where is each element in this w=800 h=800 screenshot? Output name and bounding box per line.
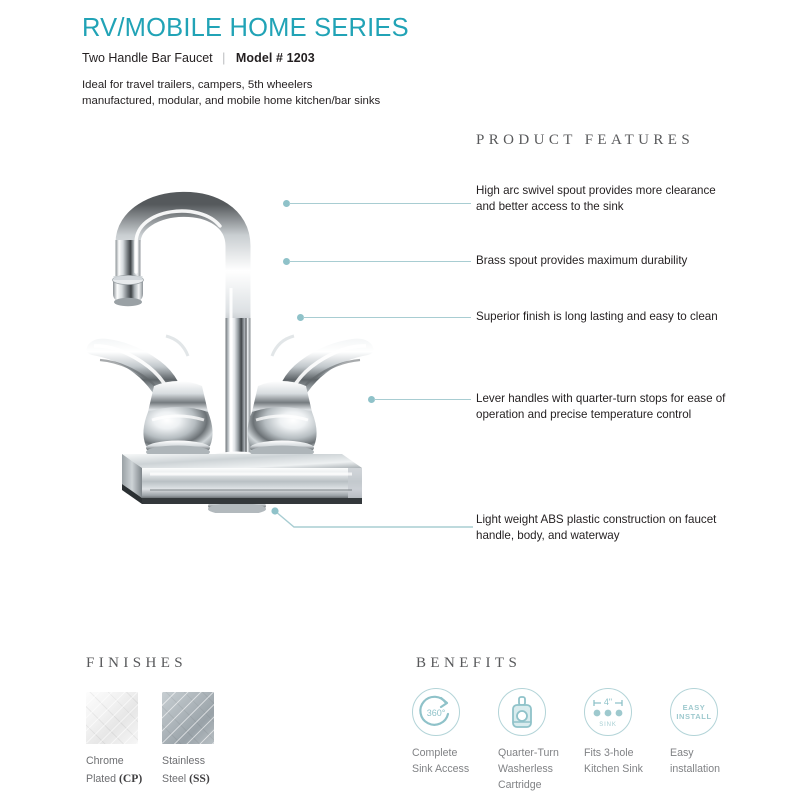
benefits-heading: BENEFITS bbox=[416, 655, 521, 672]
intro-text: Ideal for travel trailers, campers, 5th … bbox=[82, 78, 722, 109]
easy-install-icon: EASY INSTALL bbox=[671, 689, 717, 735]
benefit-quarter-turn-cartridge: Quarter-Turn Washerless Cartridge bbox=[498, 688, 584, 793]
feature-text-4: Lever handles with quarter-turn stops fo… bbox=[476, 391, 726, 423]
leader-line-1 bbox=[289, 203, 471, 204]
benefit-easy-installation: EASY INSTALL Easy installation bbox=[670, 688, 756, 777]
feature-text-3: Superior finish is long lasting and easy… bbox=[476, 309, 726, 325]
benefit-line-1: Fits 3-hole bbox=[584, 745, 670, 761]
benefit-line-2: installation bbox=[670, 761, 756, 777]
finish-swatch-stainless[interactable] bbox=[162, 692, 214, 744]
document-header: RV/MOBILE HOME SERIES Two Handle Bar Fau… bbox=[82, 14, 722, 110]
benefit-line-1: Easy bbox=[670, 745, 756, 761]
benefit-line-2: Washerless bbox=[498, 761, 584, 777]
benefit-label-4: Easy installation bbox=[670, 745, 756, 777]
rotation-360-icon: 360° bbox=[413, 689, 459, 735]
benefit-line-3: Cartridge bbox=[498, 777, 584, 793]
benefit-line-2: Sink Access bbox=[412, 761, 498, 777]
benefit-complete-sink-access: 360° Complete Sink Access bbox=[412, 688, 498, 777]
finish-label-chrome: Chrome Plated (CP) bbox=[86, 754, 142, 788]
benefit-line-1: Complete bbox=[412, 745, 498, 761]
feature-text-5: Light weight ABS plastic construction on… bbox=[476, 512, 726, 544]
benefit-fits-3-hole-sink: 4" SINK Fits 3-hole Kitchen Sink bbox=[584, 688, 670, 777]
finish-name-line1: Stainless bbox=[162, 754, 214, 770]
product-features-heading: PRODUCT FEATURES bbox=[476, 132, 694, 149]
leader-dot-5 bbox=[271, 507, 278, 514]
sink-caption: SINK bbox=[599, 722, 617, 728]
finish-name-line2: Plated bbox=[86, 773, 116, 785]
finish-code-cp: (CP) bbox=[119, 772, 142, 785]
benefit-circle-1: 360° bbox=[412, 688, 460, 736]
leader-line-4 bbox=[374, 399, 471, 400]
benefit-line-2: Kitchen Sink bbox=[584, 761, 670, 777]
subtitle-separator: | bbox=[216, 51, 232, 65]
finish-name-line2: Steel bbox=[162, 773, 186, 785]
benefit-circle-4: EASY INSTALL bbox=[670, 688, 718, 736]
cartridge-icon bbox=[499, 689, 545, 735]
leader-line-2 bbox=[289, 261, 471, 262]
page-title: RV/MOBILE HOME SERIES bbox=[82, 14, 722, 42]
rotation-360-label: 360° bbox=[427, 708, 446, 718]
easy-install-line2: INSTALL bbox=[676, 712, 711, 721]
model-number: Model # 1203 bbox=[236, 51, 315, 65]
feature-text-2: Brass spout provides maximum durability bbox=[476, 253, 726, 269]
finish-label-stainless: Stainless Steel (SS) bbox=[162, 754, 214, 788]
benefit-label-2: Quarter-Turn Washerless Cartridge bbox=[498, 745, 584, 793]
finish-name-line1: Chrome bbox=[86, 754, 142, 770]
finishes-heading: FINISHES bbox=[86, 655, 187, 672]
benefit-label-3: Fits 3-hole Kitchen Sink bbox=[584, 745, 670, 777]
leader-line-3 bbox=[303, 317, 471, 318]
benefit-label-1: Complete Sink Access bbox=[412, 745, 498, 777]
leader-line-5 bbox=[270, 506, 475, 532]
three-hole-sink-icon: 4" SINK bbox=[585, 689, 631, 735]
finish-option-chrome[interactable]: Chrome Plated (CP) bbox=[86, 692, 142, 788]
faucet-product-image bbox=[80, 168, 380, 518]
finish-code-ss: (SS) bbox=[189, 772, 210, 785]
easy-install-line1: EASY bbox=[683, 703, 706, 712]
intro-line-2: manufactured, modular, and mobile home k… bbox=[82, 94, 722, 110]
three-hole-dimension-label: 4" bbox=[604, 697, 612, 707]
feature-text-1: High arc swivel spout provides more clea… bbox=[476, 183, 726, 215]
finish-option-stainless[interactable]: Stainless Steel (SS) bbox=[162, 692, 214, 788]
finish-swatch-chrome[interactable] bbox=[86, 692, 138, 744]
benefit-line-1: Quarter-Turn bbox=[498, 745, 584, 761]
benefit-circle-2 bbox=[498, 688, 546, 736]
intro-line-1: Ideal for travel trailers, campers, 5th … bbox=[82, 78, 722, 94]
product-subtitle: Two Handle Bar Faucet | Model # 1203 bbox=[82, 51, 722, 66]
benefit-circle-3: 4" SINK bbox=[584, 688, 632, 736]
product-type-label: Two Handle Bar Faucet bbox=[82, 51, 213, 65]
